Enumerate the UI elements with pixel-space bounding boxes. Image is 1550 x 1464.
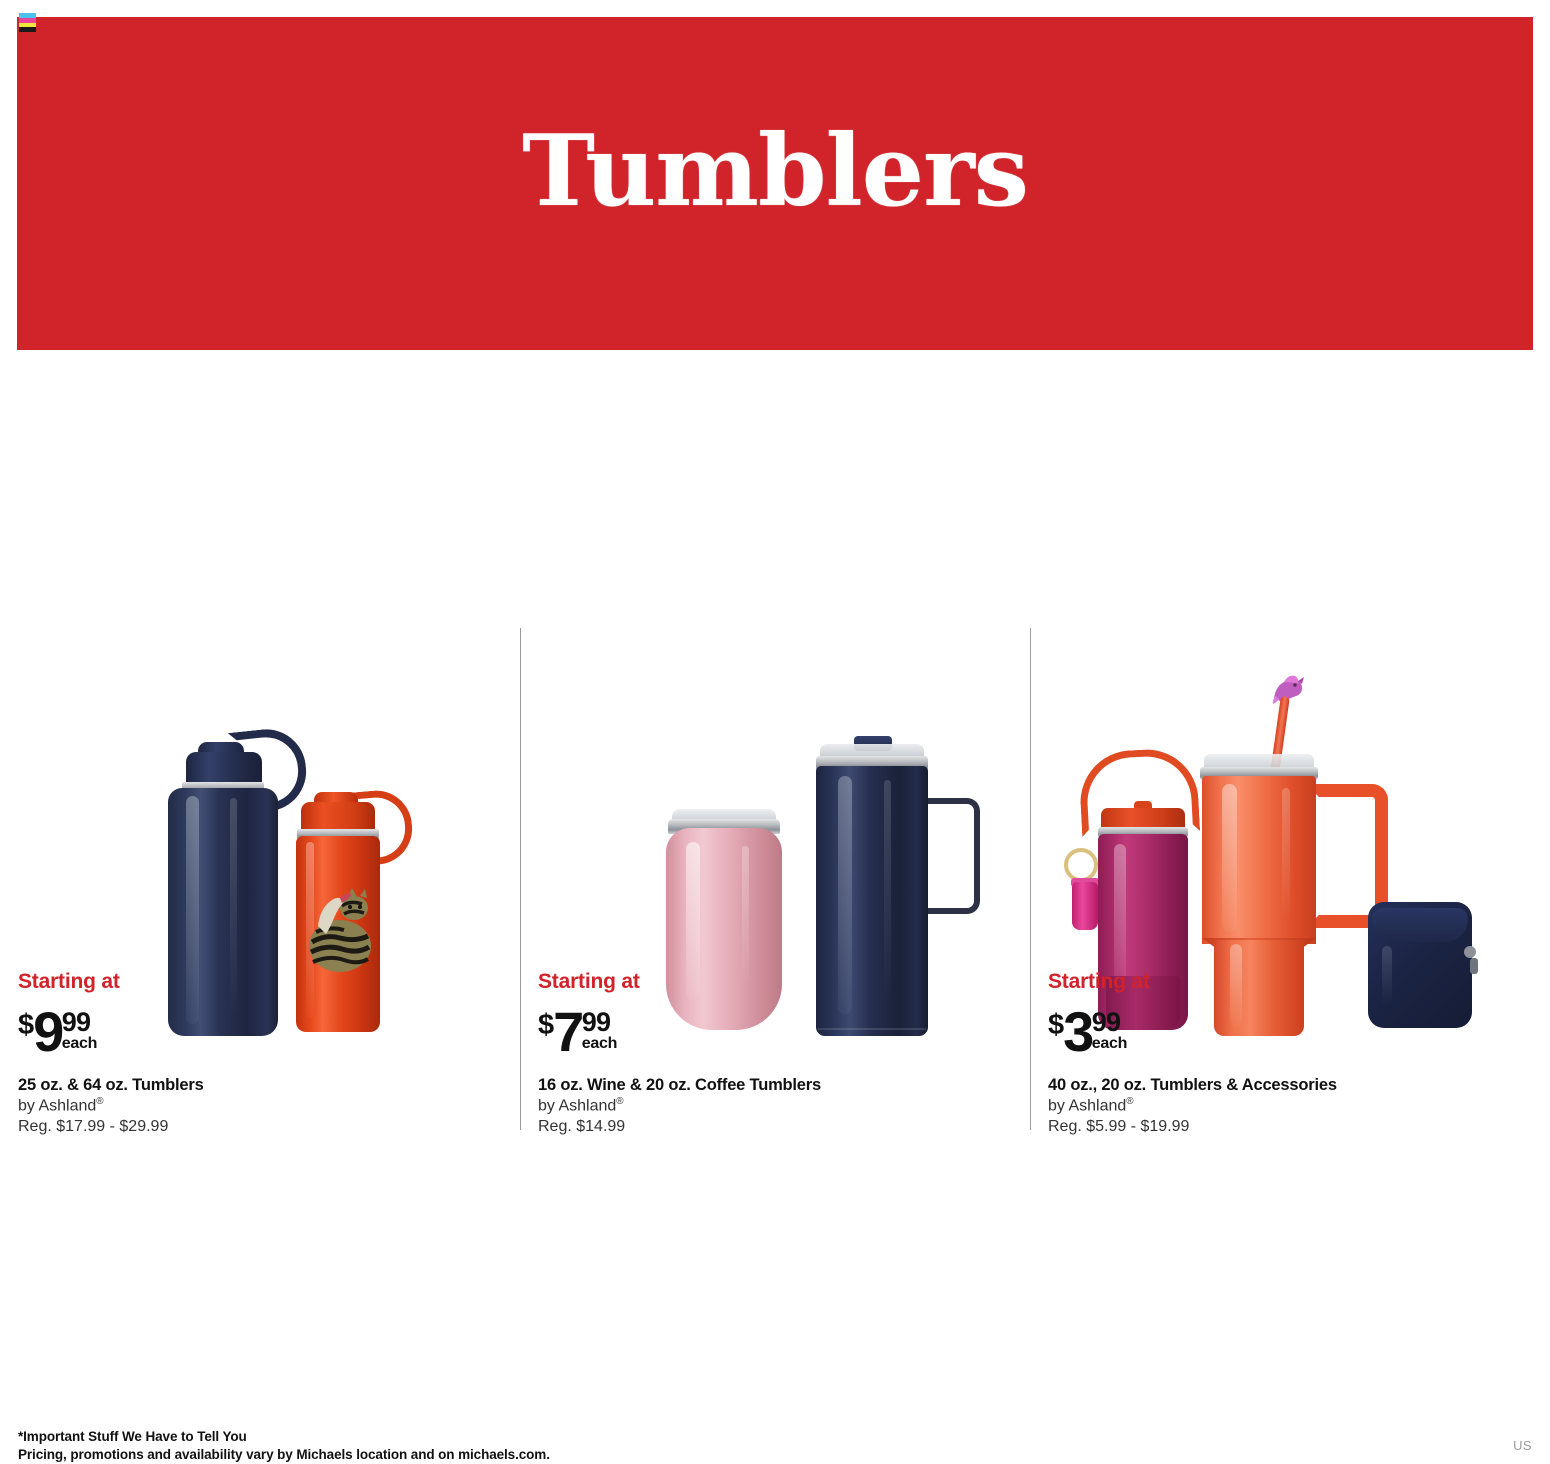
mini-tumbler-charm [1072, 882, 1098, 930]
tumbler-body-upper [1202, 776, 1316, 944]
product-panel-1[interactable]: Starting at $ 9 99 each 25 oz. & 64 oz. … [18, 628, 520, 1138]
price-cents: 99 [1092, 1010, 1127, 1036]
product-brand: by Ashland® [1048, 1096, 1534, 1117]
price-block: $ 9 99 each [18, 1008, 520, 1060]
registered-mark: ® [1126, 1096, 1133, 1107]
product-copy-1: Starting at $ 9 99 each 25 oz. & 64 oz. … [18, 971, 520, 1138]
panel-divider-1 [520, 628, 521, 1130]
flyer-page: Tumblers [0, 0, 1550, 1464]
price-dollar-sign: $ [538, 1011, 553, 1040]
page-title: Tumblers [522, 123, 1028, 221]
footer-heading: *Important Stuff We Have to Tell You [18, 1428, 918, 1446]
keyring-icon [1064, 848, 1098, 882]
brand-text: by Ashland [538, 1097, 616, 1114]
hero-banner: Tumblers [17, 17, 1533, 350]
registered-mark: ® [96, 1096, 103, 1107]
tiger-graphic-icon [300, 872, 378, 984]
price-unit-label: each [62, 1036, 97, 1053]
footer-text: Pricing, promotions and availability var… [18, 1446, 918, 1464]
price-whole-number: 3 [1063, 1008, 1092, 1056]
price-whole-number: 9 [33, 1008, 62, 1056]
price-block: $ 7 99 each [538, 1008, 1030, 1060]
price-unit-label: each [582, 1036, 617, 1053]
brand-text: by Ashland [18, 1097, 96, 1114]
product-copy-2: Starting at $ 7 99 each 16 oz. Wine & 20… [538, 971, 1030, 1138]
starting-at-label: Starting at [538, 971, 1030, 992]
cmyk-registration-bar [19, 13, 36, 32]
price-cents: 99 [582, 1010, 617, 1036]
price-dollar-sign: $ [18, 1011, 33, 1040]
price-whole-number: 7 [553, 1008, 582, 1056]
region-label: US [1513, 1438, 1532, 1453]
starting-at-label: Starting at [1048, 971, 1534, 992]
panel-divider-2 [1030, 628, 1031, 1130]
product-name: 25 oz. & 64 oz. Tumblers [18, 1075, 520, 1096]
product-brand: by Ashland® [18, 1096, 520, 1117]
registration-black-swatch [19, 27, 36, 32]
price-block: $ 3 99 each [1048, 1008, 1534, 1060]
product-panel-2[interactable]: Starting at $ 7 99 each 16 oz. Wine & 20… [538, 628, 1030, 1138]
zipper-pull-icon [1464, 946, 1476, 958]
pouch-flap [1372, 908, 1468, 942]
price-dollar-sign: $ [1048, 1011, 1063, 1040]
brand-text: by Ashland [1048, 1097, 1126, 1114]
product-regular-price: Reg. $14.99 [538, 1117, 1030, 1138]
product-panel-3[interactable]: Starting at $ 3 99 each 40 oz., 20 oz. T… [1048, 628, 1534, 1138]
product-grid: Starting at $ 9 99 each 25 oz. & 64 oz. … [0, 628, 1550, 1148]
product-brand: by Ashland® [538, 1096, 1030, 1117]
product-name: 40 oz., 20 oz. Tumblers & Accessories [1048, 1075, 1534, 1096]
product-name: 16 oz. Wine & 20 oz. Coffee Tumblers [538, 1075, 1030, 1096]
product-regular-price: Reg. $17.99 - $29.99 [18, 1117, 520, 1138]
price-unit-label: each [1092, 1036, 1127, 1053]
bottle-cap [186, 752, 262, 786]
product-regular-price: Reg. $5.99 - $19.99 [1048, 1117, 1534, 1138]
starting-at-label: Starting at [18, 971, 520, 992]
footer-disclaimer: *Important Stuff We Have to Tell You Pri… [18, 1428, 918, 1464]
price-cents: 99 [62, 1010, 97, 1036]
bottle-cap [301, 802, 375, 832]
product-copy-3: Starting at $ 3 99 each 40 oz., 20 oz. T… [1048, 971, 1534, 1138]
registered-mark: ® [616, 1096, 623, 1107]
